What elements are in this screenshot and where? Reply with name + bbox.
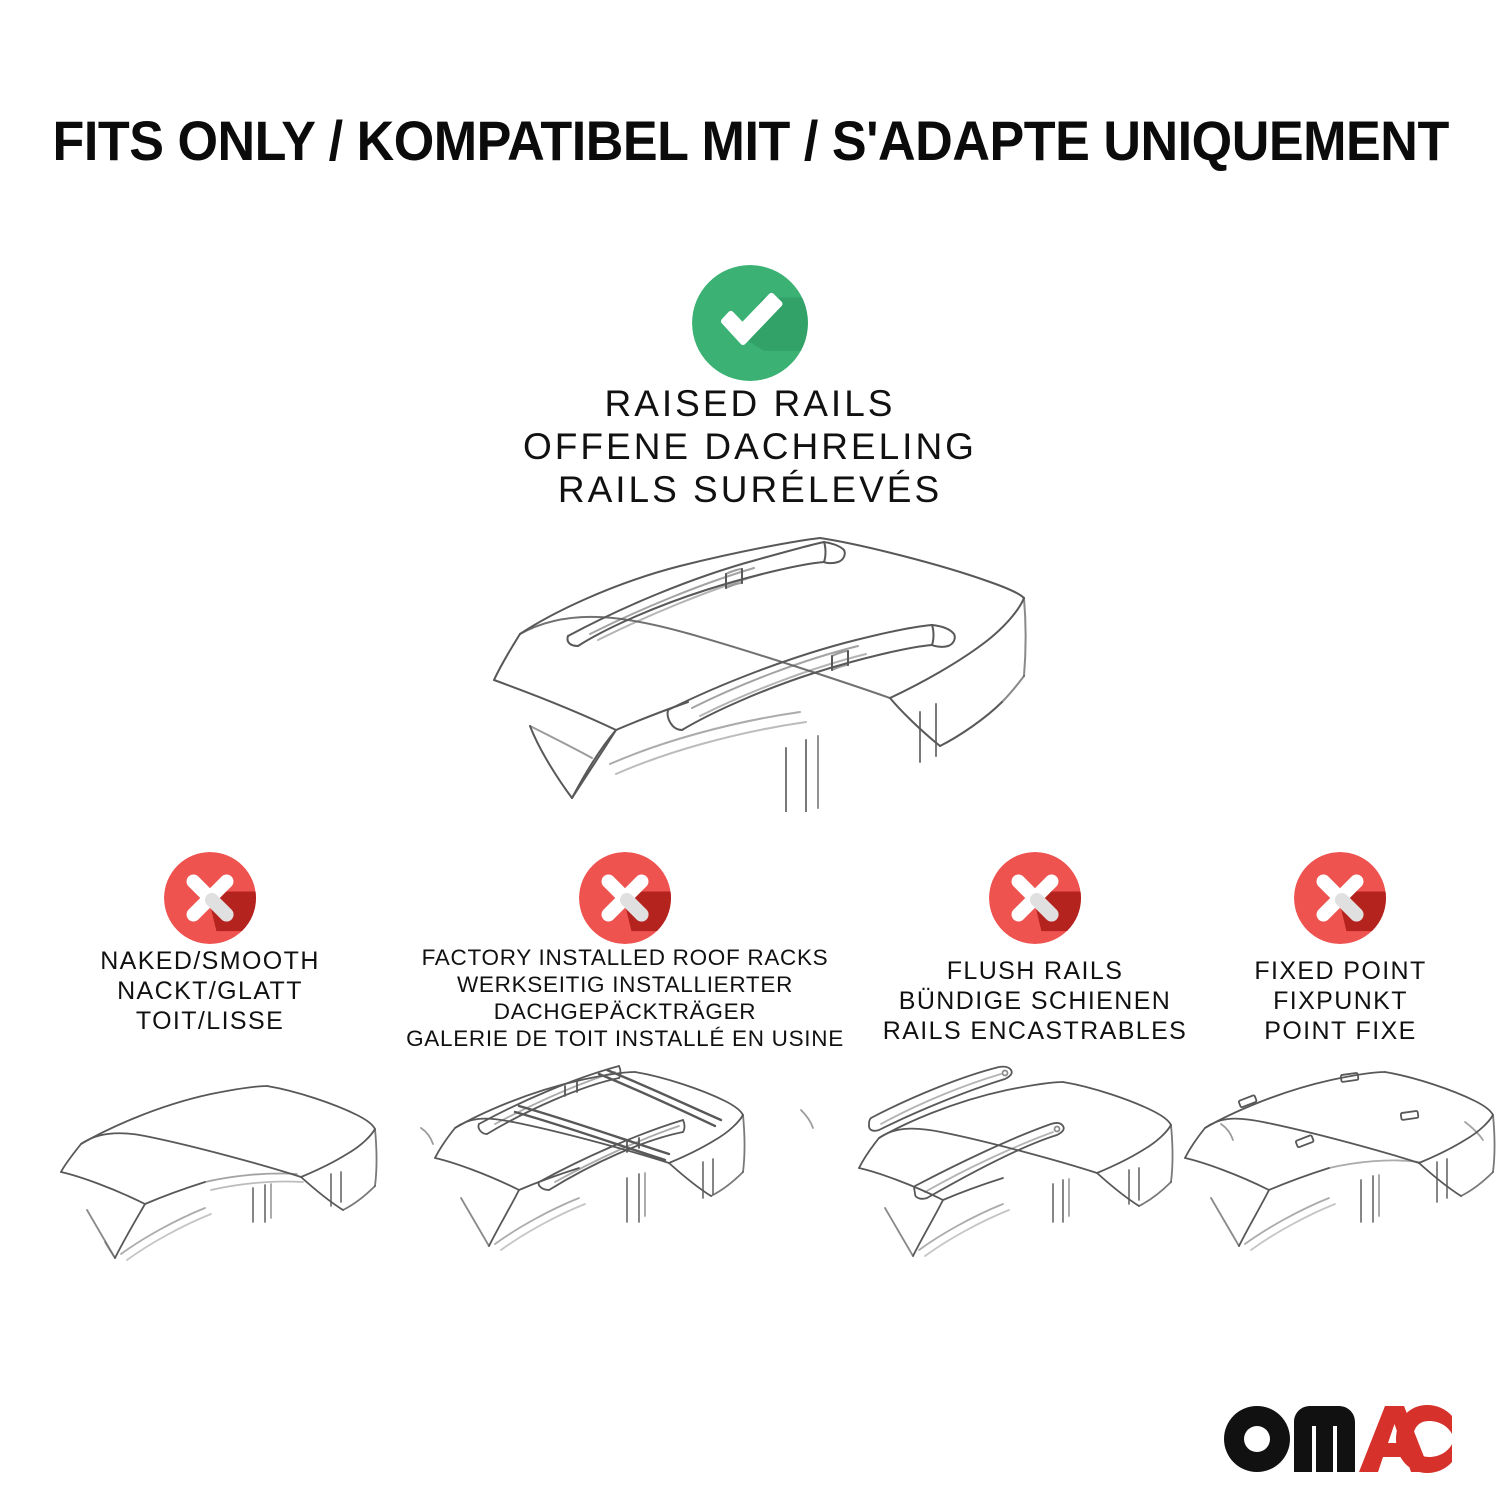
label-line-3: POINT FIXE	[1218, 1016, 1463, 1046]
check-circle-icon	[692, 265, 808, 381]
compatible-label-line-2: OFFENE DACHRELING	[350, 425, 1150, 468]
compatible-label: RAISED RAILS OFFENE DACHRELING RAILS SUR…	[350, 382, 1150, 511]
label-line-4: GALERIE DE TOIT INSTALLÉ EN USINE	[390, 1025, 860, 1052]
car-roof-fixed-point-illustration	[1165, 1062, 1500, 1292]
label-line-1: FACTORY INSTALLED ROOF RACKS	[390, 944, 860, 971]
label-line-2: FIXPUNKT	[1218, 986, 1463, 1016]
label-line-3: TOIT/LISSE	[50, 1006, 370, 1036]
car-roof-factory-racks-illustration	[415, 1058, 815, 1293]
car-roof-raised-rails-illustration	[420, 512, 1080, 812]
label-line-3: DACHGEPÄCKTRÄGER	[390, 998, 860, 1025]
label-line-2: BÜNDIGE SCHIENEN	[870, 986, 1200, 1016]
incompatible-label-factory-racks: FACTORY INSTALLED ROOF RACKS WERKSEITIG …	[390, 944, 860, 1052]
cross-circle-icon-factory-racks	[579, 852, 671, 944]
compatible-label-line-3: RAILS SURÉLEVÉS	[350, 468, 1150, 511]
label-line-3: RAILS ENCASTRABLES	[870, 1016, 1200, 1046]
omac-logo	[1222, 1404, 1452, 1474]
incompatible-label-flush-rails: FLUSH RAILS BÜNDIGE SCHIENEN RAILS ENCAS…	[870, 956, 1200, 1046]
label-line-1: FLUSH RAILS	[870, 956, 1200, 986]
page-title: FITS ONLY / KOMPATIBEL MIT / S'ADAPTE UN…	[53, 108, 1448, 173]
cross-circle-icon-naked-smooth	[164, 852, 256, 944]
cross-circle-icon-flush-rails	[989, 852, 1081, 944]
incompatible-label-fixed-point: FIXED POINT FIXPUNKT POINT FIXE	[1218, 956, 1463, 1046]
label-line-1: NAKED/SMOOTH	[50, 946, 370, 976]
car-roof-naked-smooth-illustration	[35, 1062, 435, 1292]
label-line-1: FIXED POINT	[1218, 956, 1463, 986]
infographic-page: FITS ONLY / KOMPATIBEL MIT / S'ADAPTE UN…	[0, 0, 1500, 1500]
label-line-2: NACKT/GLATT	[50, 976, 370, 1006]
compatible-label-line-1: RAISED RAILS	[350, 382, 1150, 425]
label-line-2: WERKSEITIG INSTALLIERTER	[390, 971, 860, 998]
cross-circle-icon-fixed-point	[1294, 852, 1386, 944]
incompatible-label-naked-smooth: NAKED/SMOOTH NACKT/GLATT TOIT/LISSE	[50, 946, 370, 1036]
